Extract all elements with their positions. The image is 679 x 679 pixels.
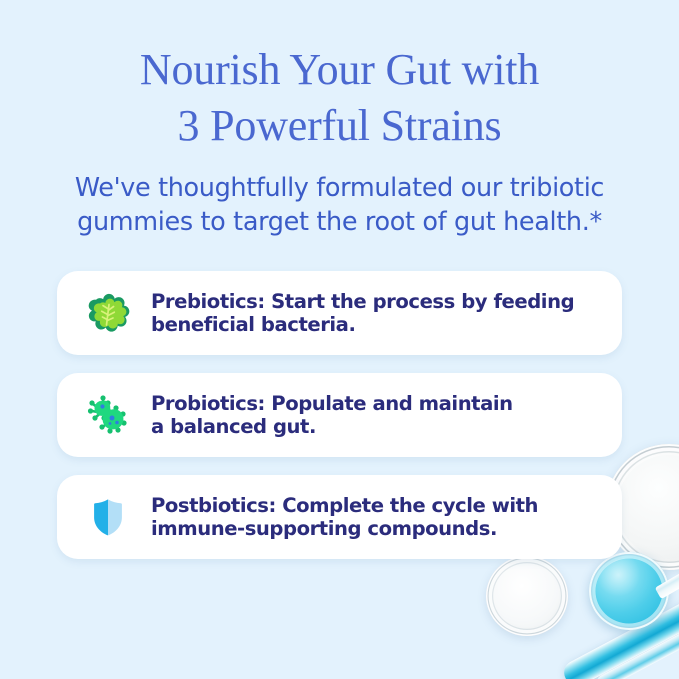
subheadline-line-2: gummies to target the root of gut health…	[0, 206, 679, 240]
benefit-card-prebiotics: Prebiotics: Start the process by feeding…	[57, 271, 622, 355]
lettuce-icon	[79, 284, 137, 342]
benefit-card-postbiotics-text: Postbiotics: Complete the cycle with imm…	[151, 494, 538, 540]
benefit-card-list: Prebiotics: Start the process by feeding…	[57, 271, 622, 559]
benefit-card-prebiotics-line-2: beneficial bacteria.	[151, 313, 574, 336]
benefit-card-prebiotics-text: Prebiotics: Start the process by feeding…	[151, 290, 574, 336]
headline-line-1: Nourish Your Gut with	[0, 42, 679, 98]
headline: Nourish Your Gut with 3 Powerful Strains	[0, 42, 679, 154]
benefit-card-probiotics-text: Probiotics: Populate and maintain a bala…	[151, 392, 513, 438]
subheadline: We've thoughtfully formulated our tribio…	[0, 172, 679, 239]
bacteria-icon	[79, 386, 137, 444]
benefit-card-postbiotics-line-1: Postbiotics: Complete the cycle with	[151, 494, 538, 517]
benefit-card-postbiotics-line-2: immune-supporting compounds.	[151, 517, 538, 540]
shield-icon	[79, 488, 137, 546]
subheadline-line-1: We've thoughtfully formulated our tribio…	[0, 172, 679, 206]
benefit-card-probiotics: Probiotics: Populate and maintain a bala…	[57, 373, 622, 457]
benefit-card-probiotics-line-1: Probiotics: Populate and maintain	[151, 392, 513, 415]
headline-line-2: 3 Powerful Strains	[0, 98, 679, 154]
benefit-card-probiotics-line-2: a balanced gut.	[151, 415, 513, 438]
promo-graphic: Nourish Your Gut with 3 Powerful Strains…	[0, 0, 679, 679]
benefit-card-prebiotics-line-1: Prebiotics: Start the process by feeding	[151, 290, 574, 313]
benefit-card-postbiotics: Postbiotics: Complete the cycle with imm…	[57, 475, 622, 559]
